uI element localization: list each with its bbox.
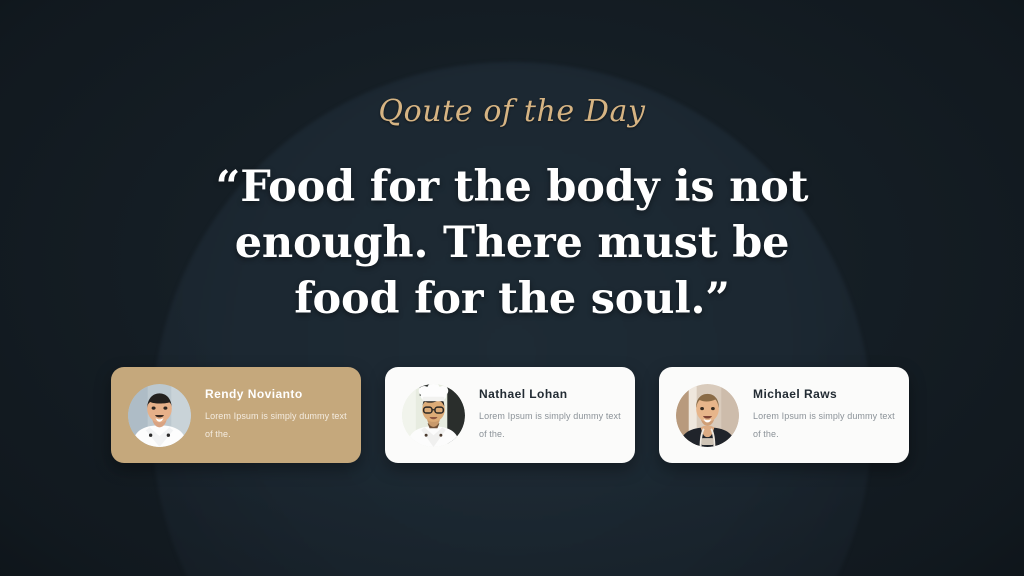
- avatar: [402, 384, 465, 447]
- quote-text: “Food for the body is not enough. There …: [202, 160, 822, 328]
- testimonial-card-list: Rendy Novianto Lorem Ipsum is simply dum…: [111, 367, 909, 463]
- card-description: Lorem Ipsum is simply dummy text of the.: [753, 408, 895, 443]
- quote-slide: Qoute of the Day “Food for the body is n…: [0, 0, 1024, 576]
- card-text: Rendy Novianto Lorem Ipsum is simply dum…: [205, 387, 347, 443]
- card-name: Nathael Lohan: [479, 387, 621, 401]
- card-text: Nathael Lohan Lorem Ipsum is simply dumm…: [479, 387, 621, 443]
- card-text: Michael Raws Lorem Ipsum is simply dummy…: [753, 387, 895, 443]
- testimonial-card[interactable]: Michael Raws Lorem Ipsum is simply dummy…: [659, 367, 909, 463]
- slide-content: Qoute of the Day “Food for the body is n…: [0, 0, 1024, 576]
- slide-eyebrow-heading: Qoute of the Day: [0, 94, 1024, 129]
- testimonial-card[interactable]: Nathael Lohan Lorem Ipsum is simply dumm…: [385, 367, 635, 463]
- avatar: [676, 384, 739, 447]
- testimonial-card[interactable]: Rendy Novianto Lorem Ipsum is simply dum…: [111, 367, 361, 463]
- card-description: Lorem Ipsum is simply dummy text of the.: [205, 408, 347, 443]
- card-description: Lorem Ipsum is simply dummy text of the.: [479, 408, 621, 443]
- card-name: Rendy Novianto: [205, 387, 347, 401]
- card-name: Michael Raws: [753, 387, 895, 401]
- avatar: [128, 384, 191, 447]
